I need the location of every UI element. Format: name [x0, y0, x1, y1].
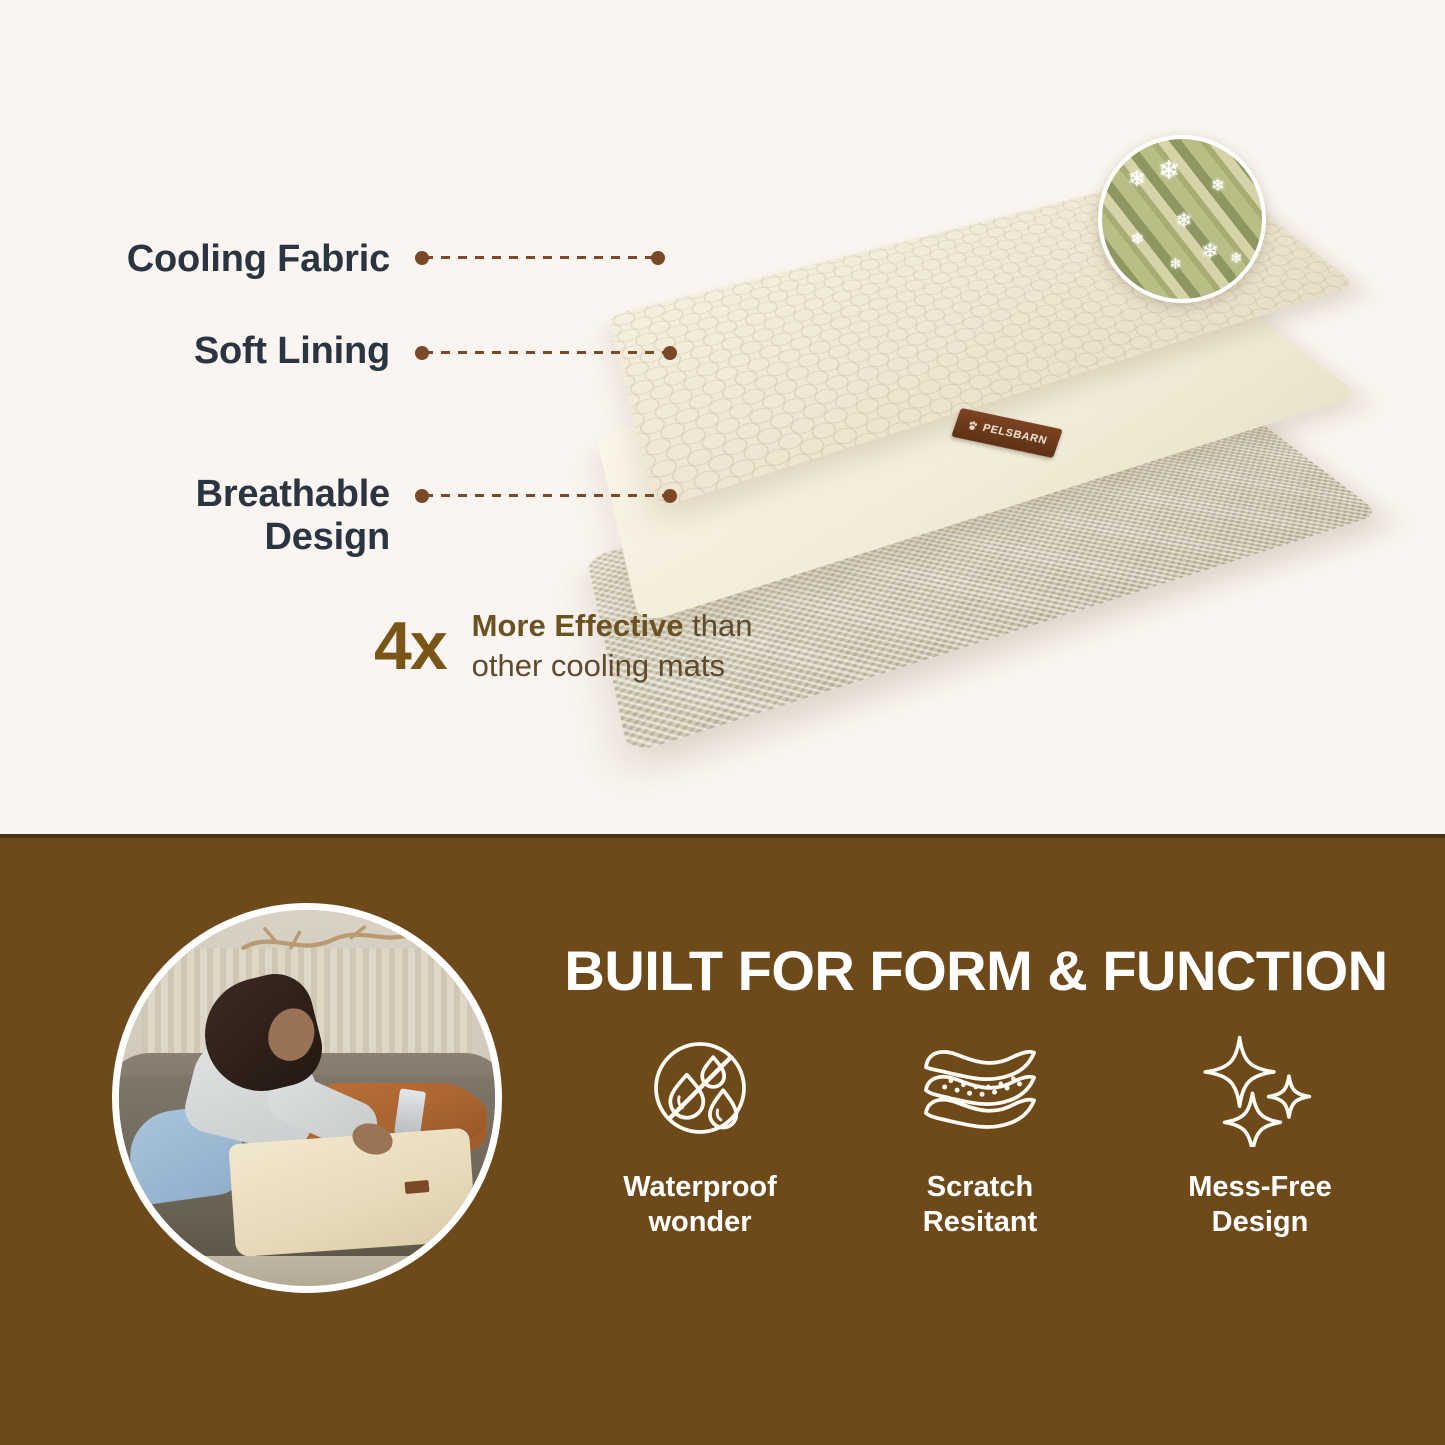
- photo-mat-brand-tag: [404, 1180, 429, 1194]
- connector-dot-right: [663, 489, 677, 503]
- connector-dot-right: [651, 251, 665, 265]
- snowflake-icon: ❄: [1158, 157, 1180, 183]
- connector-dash: [424, 256, 656, 259]
- feature-item-mess-free: Mess-Free Design: [1135, 1028, 1385, 1241]
- top-panel: PELSBARN ❄ ❄ ❄ ❄ ❄ ❄ ❄ ❄ Cooling Fabric …: [0, 0, 1445, 834]
- effectiveness-text: More Effective than other cooling mats: [472, 606, 782, 685]
- feature-item-waterproof: Waterproof wonder: [575, 1028, 825, 1241]
- photo-branch-decor: [239, 921, 412, 966]
- feature-caption: Mess-Free Design: [1188, 1170, 1331, 1241]
- callout-label-breathable-design: Breathable Design: [40, 473, 390, 560]
- lifestyle-photo: [112, 903, 502, 1293]
- feature-list: Waterproof wonder: [560, 1028, 1400, 1241]
- connector-dash: [424, 494, 668, 497]
- effectiveness-bold-text: More Effective: [472, 608, 684, 643]
- connector-dot-line-icon: [415, 487, 677, 505]
- callout-label-cooling-fabric: Cooling Fabric: [40, 238, 390, 281]
- effectiveness-claim: 4x More Effective than other cooling mat…: [374, 606, 782, 685]
- connector-dot-line-icon: [415, 344, 677, 362]
- fabric-layers-icon: [915, 1028, 1045, 1148]
- connector-dot-right: [663, 346, 677, 360]
- fabric-weave-closeup: ❄ ❄ ❄ ❄ ❄ ❄ ❄ ❄: [1098, 135, 1266, 303]
- sparkles-icon: [1195, 1028, 1325, 1148]
- effectiveness-multiplier: 4x: [374, 612, 446, 680]
- no-water-droplets-icon: [635, 1028, 765, 1148]
- snowflake-icon: ❄: [1169, 257, 1182, 272]
- feature-item-scratch-resistant: Scratch Resitant: [855, 1028, 1105, 1241]
- section-heading: BUILT FOR FORM & FUNCTION: [556, 943, 1396, 999]
- photo-cooling-mat: [228, 1127, 476, 1256]
- feature-caption: Scratch Resitant: [923, 1170, 1037, 1241]
- connector-dash: [424, 351, 668, 354]
- bottom-panel: BUILT FOR FORM & FUNCTION Waterproof won…: [0, 838, 1445, 1445]
- connector-dot-line-icon: [415, 249, 665, 267]
- brand-tag-label: PELSBARN: [981, 422, 1049, 447]
- feature-caption: Waterproof wonder: [623, 1170, 777, 1241]
- callout-label-soft-lining: Soft Lining: [40, 330, 390, 373]
- product-infographic: PELSBARN ❄ ❄ ❄ ❄ ❄ ❄ ❄ ❄ Cooling Fabric …: [0, 0, 1445, 1445]
- paw-icon: [965, 419, 981, 433]
- snowflake-icon: ❄: [1201, 241, 1219, 262]
- snowflake-icon: ❄: [1211, 177, 1225, 194]
- snowflake-icon: ❄: [1128, 168, 1146, 190]
- snowflake-icon: ❄: [1230, 251, 1243, 266]
- snowflake-icon: ❄: [1176, 211, 1193, 231]
- snowflake-icon: ❄: [1131, 232, 1144, 248]
